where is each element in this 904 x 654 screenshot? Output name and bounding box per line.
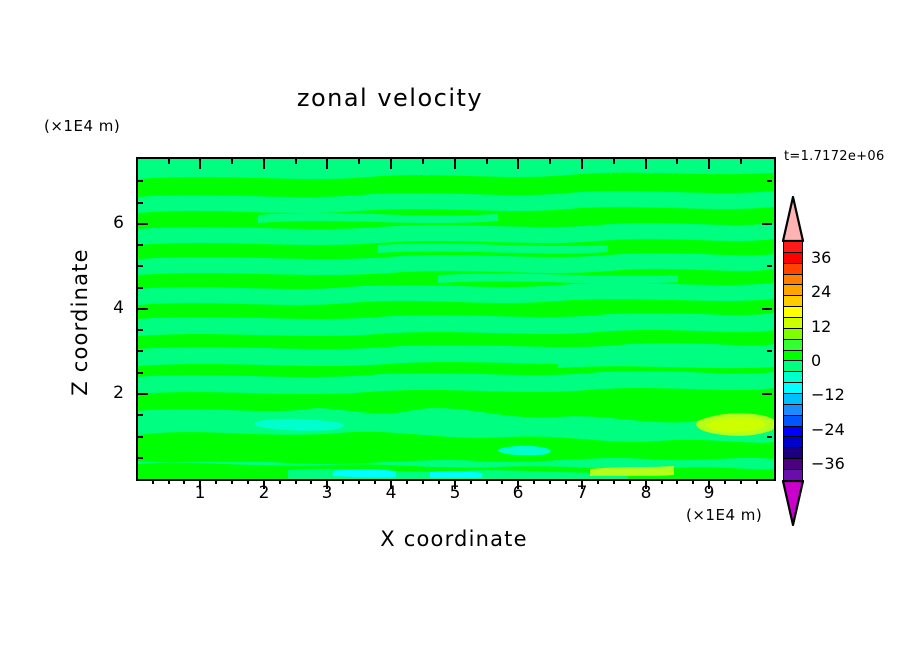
colorbar-tick-label: 12 xyxy=(811,317,831,336)
plot-title: zonal velocity xyxy=(0,84,780,112)
y-tick-right-minor xyxy=(767,265,772,267)
y-axis-title: Z coordinate xyxy=(68,202,92,442)
x-tick-top-minor xyxy=(358,159,360,164)
x-tick-label: 3 xyxy=(307,483,347,503)
colorbar-swatch xyxy=(784,427,802,438)
y-tick-major xyxy=(138,223,148,225)
colorbar-swatch xyxy=(784,383,802,394)
y-axis-unit-label: (×1E4 m) xyxy=(44,117,120,135)
x-tick-minor xyxy=(295,479,297,484)
y-tick-right-major xyxy=(762,223,772,225)
y-tick-minor xyxy=(138,457,143,459)
x-tick-minor xyxy=(486,479,488,484)
colorbar-swatch xyxy=(784,470,802,480)
colorbar-under-arrow xyxy=(781,480,805,526)
x-tick-minor xyxy=(168,479,170,484)
y-tick-major xyxy=(138,308,148,310)
x-tick-minor xyxy=(549,479,551,484)
x-tick-top-major xyxy=(645,159,647,169)
x-tick-label: 1 xyxy=(180,483,220,503)
x-tick-top-minor xyxy=(676,159,678,164)
colorbar-swatch xyxy=(784,285,802,296)
y-tick-minor xyxy=(138,329,143,331)
colorbar-swatch xyxy=(784,437,802,448)
colorbar-tick-label: 24 xyxy=(811,282,831,301)
y-tick-right-major xyxy=(762,308,772,310)
x-tick-top-minor xyxy=(486,159,488,164)
contour-plot-figure: zonal velocity (×1E4 m) t=1.7172e+06 xyxy=(0,0,904,654)
colorbar-swatch xyxy=(784,416,802,427)
x-tick-top-major xyxy=(454,159,456,169)
colorbar-tick-label: 36 xyxy=(811,248,831,267)
x-tick-minor xyxy=(231,479,233,484)
x-tick-top-minor xyxy=(295,159,297,164)
y-tick-label: 4 xyxy=(88,298,124,318)
x-tick-top-minor xyxy=(549,159,551,164)
y-tick-minor xyxy=(138,414,143,416)
x-tick-label: 2 xyxy=(244,483,284,503)
colorbar-swatch xyxy=(784,253,802,264)
colorbar-swatch xyxy=(784,296,802,307)
y-tick-minor xyxy=(138,202,143,204)
y-tick-right-minor xyxy=(767,350,772,352)
x-tick-top-major xyxy=(708,159,710,169)
contour-field xyxy=(138,159,774,479)
x-tick-top-major xyxy=(263,159,265,169)
x-tick-top-minor xyxy=(613,159,615,164)
colorbar-swatch xyxy=(784,307,802,318)
colorbar-tick-label: −12 xyxy=(811,385,845,404)
x-tick-minor xyxy=(676,479,678,484)
colorbar: 3624120−12−24−36 xyxy=(781,196,805,526)
x-tick-label: 7 xyxy=(562,483,602,503)
colorbar-swatch xyxy=(784,275,802,286)
colorbar-tick-label: −36 xyxy=(811,454,845,473)
x-axis-unit-label: (×1E4 m) xyxy=(686,506,762,524)
colorbar-swatch xyxy=(784,351,802,362)
colorbar-tick-label: 0 xyxy=(811,351,821,370)
y-tick-minor xyxy=(138,372,143,374)
y-tick-minor xyxy=(138,180,143,182)
colorbar-swatch xyxy=(784,405,802,416)
colorbar-swatch xyxy=(784,340,802,351)
colorbar-swatches xyxy=(783,241,803,481)
x-tick-top-minor xyxy=(168,159,170,164)
x-tick-minor xyxy=(613,479,615,484)
colorbar-swatch xyxy=(784,372,802,383)
x-axis-title: X coordinate xyxy=(136,527,772,551)
x-tick-label: 9 xyxy=(689,483,729,503)
colorbar-swatch xyxy=(784,459,802,470)
y-tick-right-minor xyxy=(767,436,772,438)
y-tick-minor xyxy=(138,436,143,438)
colorbar-swatch xyxy=(784,448,802,459)
y-tick-minor xyxy=(138,350,143,352)
colorbar-swatch xyxy=(784,242,802,253)
x-tick-top-minor xyxy=(422,159,424,164)
x-tick-label: 5 xyxy=(435,483,475,503)
x-tick-top-major xyxy=(581,159,583,169)
x-tick-top-minor xyxy=(740,159,742,164)
y-tick-label: 6 xyxy=(88,213,124,233)
x-tick-label: 4 xyxy=(371,483,411,503)
x-tick-label: 8 xyxy=(626,483,666,503)
x-tick-top-major xyxy=(326,159,328,169)
time-annotation: t=1.7172e+06 xyxy=(784,149,885,164)
x-tick-minor xyxy=(740,479,742,484)
x-tick-minor xyxy=(422,479,424,484)
x-tick-top-major xyxy=(390,159,392,169)
y-tick-right-minor xyxy=(767,180,772,182)
colorbar-swatch xyxy=(784,264,802,275)
colorbar-swatch xyxy=(784,329,802,340)
colorbar-tick-label: −24 xyxy=(811,420,845,439)
x-tick-minor xyxy=(358,479,360,484)
y-tick-minor xyxy=(138,265,143,267)
y-tick-right-major xyxy=(762,393,772,395)
plot-area xyxy=(136,157,776,481)
y-tick-major xyxy=(138,393,148,395)
y-tick-label: 2 xyxy=(88,383,124,403)
colorbar-swatch xyxy=(784,318,802,329)
x-tick-top-major xyxy=(199,159,201,169)
x-tick-minor xyxy=(152,479,154,484)
colorbar-swatch xyxy=(784,394,802,405)
x-tick-label: 6 xyxy=(498,483,538,503)
x-tick-top-minor xyxy=(231,159,233,164)
y-tick-minor xyxy=(138,244,143,246)
x-tick-minor xyxy=(756,479,758,484)
colorbar-over-arrow xyxy=(781,196,805,242)
x-tick-top-major xyxy=(517,159,519,169)
colorbar-swatch xyxy=(784,361,802,372)
y-tick-minor xyxy=(138,287,143,289)
